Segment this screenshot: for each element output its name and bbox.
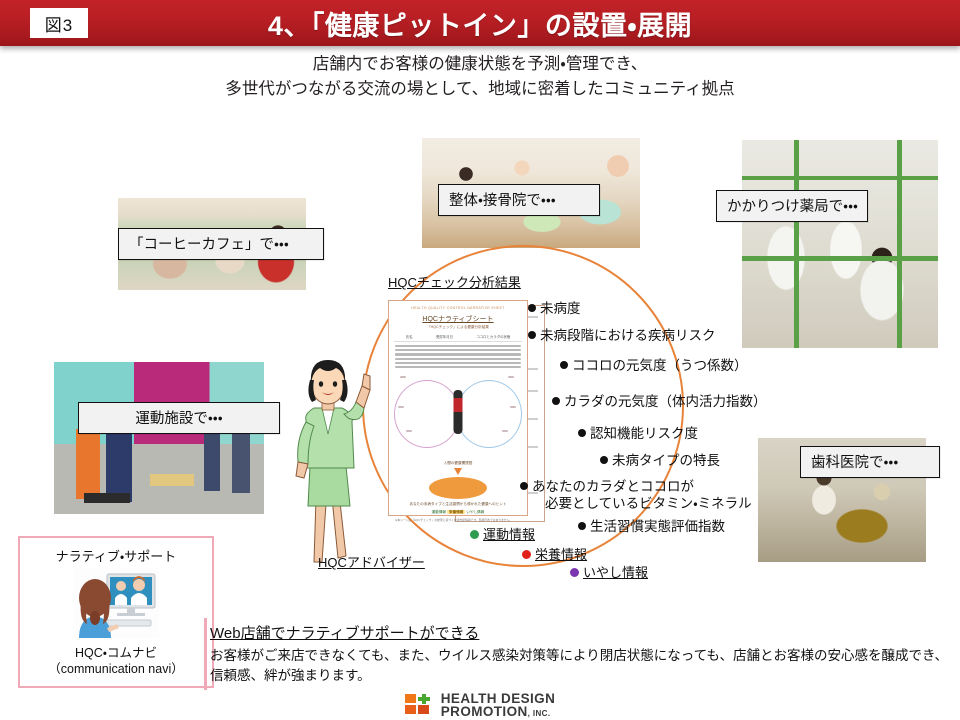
gym-person-4: [232, 429, 250, 493]
subtitle-line-2: 多世代がつながる交流の場として、地域に密着したコミュニティ拠点: [0, 77, 960, 102]
footer-logo-word: PROMOTION: [441, 704, 528, 719]
web-support-body-line-1: お客様がご来店できなくても、また、ウイルス感染対策等により閉店状態になっても、店…: [210, 646, 940, 666]
analysis-bullet-4: 認知機能リスク度: [578, 425, 698, 443]
info-link-2[interactable]: いやし情報: [570, 562, 648, 581]
venn-tag-2: [508, 376, 514, 378]
web-support-body: お客様がご来店できなくても、また、ウイルス感染対策等により閉店状態になっても、店…: [210, 646, 940, 687]
sheet-link-nutrition: 栄養情報: [447, 510, 465, 514]
hqc-check-result-label: HQCチェック分析結果: [388, 272, 521, 291]
figure-number-badge: 図3: [30, 8, 88, 38]
analysis-bullet-label: あなたのカラダとココロが: [532, 479, 694, 494]
analysis-bullet-label: 認知機能リスク度: [590, 426, 698, 441]
photo-pharmacy: [742, 140, 938, 348]
callout-exercise-facility: 運動施設で・・・: [78, 402, 280, 434]
sheet-meta-0: 氏名: [406, 334, 413, 339]
sheet-fineprint: ※本シートは「HQCチェック」の結果に基づく健康支援情報です。医療行為ではありま…: [395, 518, 521, 522]
sheet-foot-links: 運動情報 栄養情報 いやし情報: [392, 510, 524, 515]
analysis-bullet-0: 未病度: [528, 300, 581, 318]
page-title: 4、「健康ピットイン」の設置・展開: [0, 0, 960, 46]
venn-tag-6: [502, 430, 508, 432]
web-support-body-line-2: 信頼感、絆が強まります。: [210, 666, 940, 686]
footer-logo-line-2: PROMOTION, INC.: [441, 705, 555, 719]
photo-pharmacy-image: [742, 140, 938, 348]
venn-tag-1: [400, 376, 406, 378]
venn-circle-right: [456, 380, 522, 448]
bullet-dot-icon: [520, 482, 528, 490]
sheet-meta-2: ココロとカラダの状態: [476, 334, 510, 339]
info-link-0[interactable]: 運動情報: [470, 524, 535, 543]
green-cross-icon: [418, 694, 430, 704]
sheet-header-line: HEALTH QUALITY CONTROL NARRATIVE SHEET: [392, 306, 524, 310]
venn-human-figure: [454, 390, 463, 434]
web-support-heading: Web店舗でナラティブサポートができる: [210, 622, 479, 643]
info-link-label: いやし情報: [583, 565, 648, 580]
hqc-narrative-sheet-thumbnail: HEALTH QUALITY CONTROL NARRATIVE SHEET H…: [388, 300, 528, 516]
hqc-comnavi-illustration: [73, 568, 159, 638]
analysis-bullet-label: カラダの元気度（体内活力指数）: [564, 394, 767, 409]
info-link-label: 運動情報: [483, 527, 535, 542]
bottom-accent-bar: [204, 618, 207, 690]
callout-pharmacy: かかりつけ薬局で・・・: [716, 190, 868, 222]
analysis-bullet-1: 未病段階における疾病リスク: [528, 327, 716, 345]
photo-exercise-facility: [54, 362, 264, 514]
bullet-dot-icon: [528, 331, 536, 339]
sheet-title: HQCナラティブシート: [392, 314, 524, 324]
bullet-dot-icon: [600, 456, 608, 464]
analysis-bullet-label: 必要としているビタミン・ミネラル: [545, 496, 752, 511]
health-design-logo-icon: [405, 694, 435, 716]
analysis-bullet-8: 生活習慣実態評価指数: [578, 518, 725, 536]
sheet-link-healing: いやし情報: [466, 510, 484, 514]
header-bar: 4、「健康ピットイン」の設置・展開: [0, 0, 960, 46]
sheet-meta-row: 氏名 受診年月日 ココロとカラダの状態: [394, 334, 522, 342]
sheet-body-label: 人間の健康関連図: [392, 461, 524, 466]
callout-seitai-clinic: 整体・接骨院で・・・: [438, 184, 600, 216]
footer-logo-line-1: HEALTH DESIGN: [441, 692, 555, 706]
analysis-bullet-label: ココロの元気度（うつ係数）: [572, 358, 748, 373]
bullet-dot-icon: [528, 304, 536, 312]
photo-exercise-facility-image: [54, 362, 264, 514]
sheet-link-exercise: 運動情報: [432, 510, 446, 514]
info-link-label: 栄養情報: [535, 547, 587, 562]
gym-person-3: [204, 430, 220, 491]
gym-person-2: [106, 426, 132, 502]
sheet-subtitle: 「HQCチェック」による健康分析結果: [392, 325, 524, 330]
narrative-support-box: ナラティブ・サポート HQC・コムナビ （communication navi）: [18, 536, 214, 688]
venn-tag-3: [398, 406, 404, 408]
sheet-arrow-icon: [454, 468, 462, 475]
sheet-paragraph: [395, 345, 521, 368]
sheet-result-oval: [429, 477, 487, 499]
sheet-venn-diagram: [392, 372, 524, 458]
subtitle-block: 店舗内でお客様の健康状態を予測・管理でき、 多世代がつながる交流の場として、地域…: [0, 52, 960, 102]
info-link-dot-icon: [470, 530, 479, 539]
venn-circle-left: [394, 380, 460, 448]
footer-logo-suffix: , INC.: [528, 709, 551, 718]
narrative-support-title: ナラティブ・サポート: [20, 546, 212, 565]
bullet-dot-icon: [560, 361, 568, 369]
sheet-meta-1: 受診年月日: [436, 334, 453, 339]
analysis-bullet-label: 未病段階における疾病リスク: [540, 328, 716, 343]
gym-mat-2: [84, 493, 130, 503]
analysis-bullet-label: 生活習慣実態評価指数: [590, 519, 725, 534]
hqc-adviser-illustration: [276, 358, 380, 570]
analysis-bullet-3: カラダの元気度（体内活力指数）: [552, 393, 767, 411]
venn-tag-5: [406, 430, 412, 432]
analysis-bullet-5: 未病タイプの特長: [600, 452, 720, 470]
info-link-dot-icon: [522, 550, 531, 559]
gym-person-1: [76, 429, 100, 499]
callout-dental-clinic: 歯科医院で・・・: [800, 446, 940, 478]
analysis-bullet-6: あなたのカラダとココロが: [520, 478, 694, 496]
info-link-dot-icon: [570, 568, 579, 577]
footer-logo-text: HEALTH DESIGN PROMOTION, INC.: [441, 692, 555, 719]
bullet-dot-icon: [578, 522, 586, 530]
bullet-dot-icon: [578, 429, 586, 437]
analysis-bullet-7: 必要としているビタミン・ミネラル: [545, 495, 752, 513]
hqc-adviser-label: HQCアドバイザー: [318, 552, 425, 571]
bullet-dot-icon: [552, 397, 560, 405]
callout-coffee-cafe: 「コーヒーカフェ」で・・・: [118, 228, 324, 260]
info-link-1[interactable]: 栄養情報: [522, 544, 587, 563]
narrative-caption-line-2: （communication navi）: [20, 658, 212, 677]
sheet-footer-note: あなたの未病タイプと生活習慣から導かれた健康へのヒント: [392, 502, 524, 507]
subtitle-line-1: 店舗内でお客様の健康状態を予測・管理でき、: [0, 52, 960, 77]
gym-mat-1: [150, 474, 194, 486]
analysis-bullet-label: 未病度: [540, 301, 581, 316]
analysis-bullet-2: ココロの元気度（うつ係数）: [560, 357, 748, 375]
analysis-bullet-label: 未病タイプの特長: [612, 453, 720, 468]
venn-tag-4: [510, 406, 516, 408]
footer-logo: HEALTH DESIGN PROMOTION, INC.: [0, 690, 960, 720]
